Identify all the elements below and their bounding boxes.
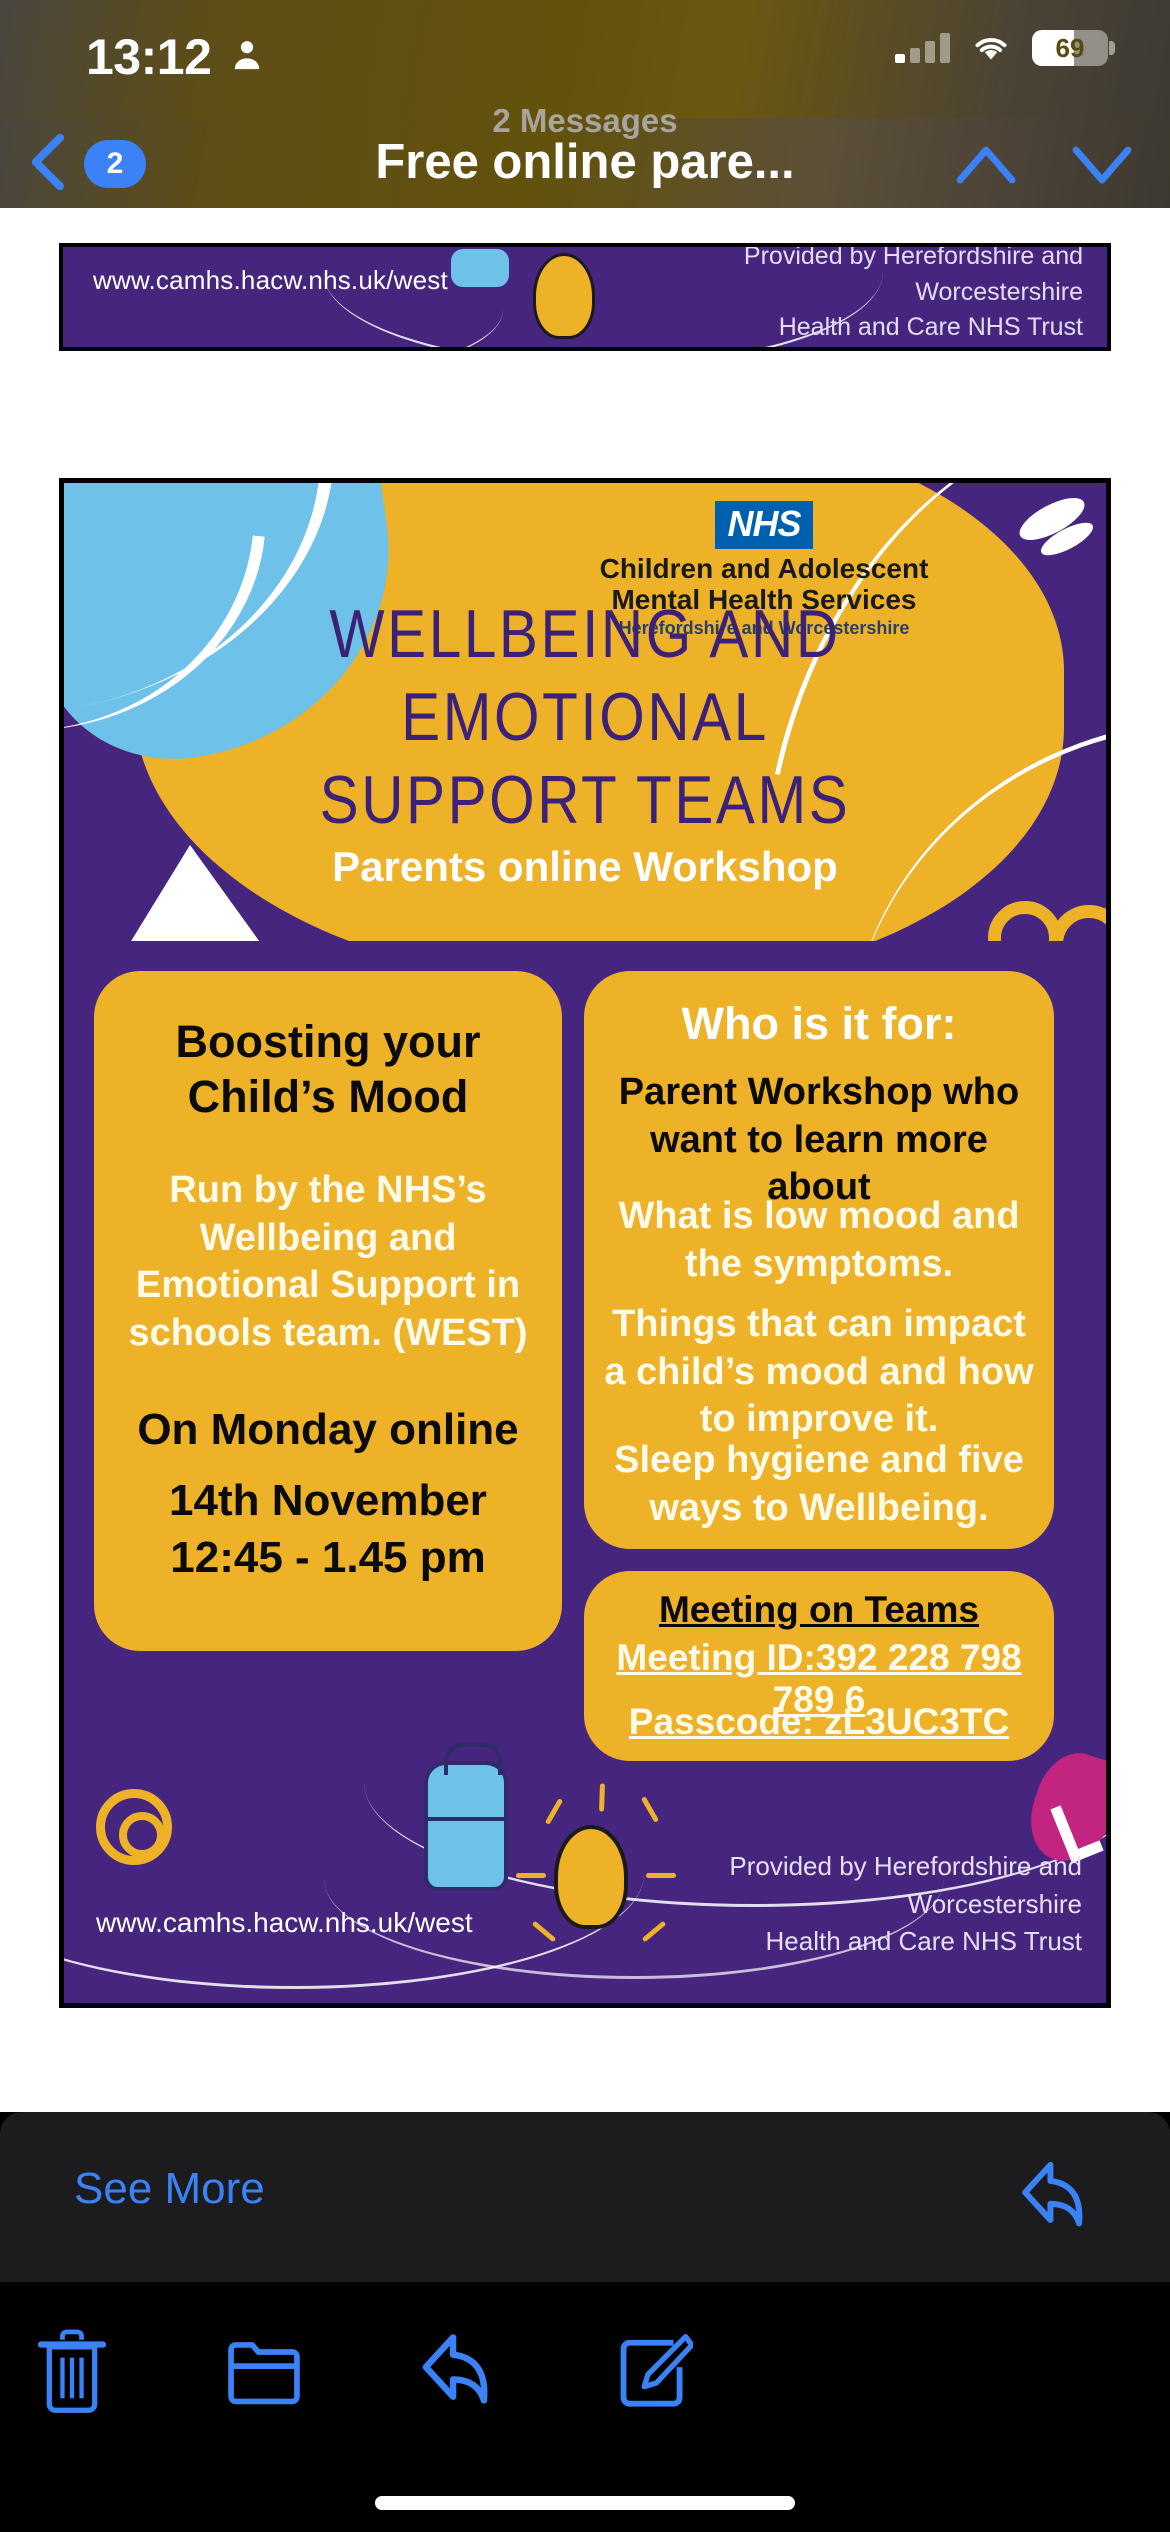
left-card-date-line-3: 12:45 - 1.45 pm	[108, 1529, 548, 1586]
lightbulb-ray	[516, 1873, 546, 1878]
lightbulb-ray	[545, 1798, 563, 1825]
chevron-up-icon[interactable]	[954, 140, 1018, 188]
left-card-runby: Run by the NHS’s Wellbeing and Emotional…	[108, 1167, 548, 1357]
poster-footer: www.camhs.hacw.nhs.uk/west Provided by H…	[64, 1743, 1106, 2003]
compose-icon	[615, 2332, 693, 2412]
folder-icon	[224, 2334, 304, 2410]
lightbulb-ray	[532, 1921, 557, 1943]
compose-button[interactable]	[594, 2312, 714, 2432]
poster-footer-provider-line-2: Health and Care NHS Trust	[592, 1923, 1082, 1961]
lightbulb-icon	[533, 253, 595, 339]
right-info-card: Who is it for: Parent Workshop who want …	[584, 971, 1054, 1549]
poster-attachment[interactable]: NHS Children and Adolescent Mental Healt…	[59, 478, 1111, 2008]
move-to-folder-button[interactable]	[204, 2312, 324, 2432]
poster-title-line-2: EMOTIONAL	[137, 676, 1033, 759]
left-card-date-line-1: On Monday online	[108, 1401, 548, 1458]
left-info-card: Boosting your Child’s Mood Run by the NH…	[94, 971, 562, 1651]
reply-icon[interactable]	[1018, 2158, 1092, 2236]
nhs-brand-line-1: Children and Adolescent	[554, 553, 974, 584]
battery-nub	[1109, 41, 1115, 55]
cellular-signal-icon	[895, 33, 950, 63]
poster-title-line-3: SUPPORT TEAMS	[137, 759, 1033, 842]
right-card-heading: Who is it for:	[600, 997, 1038, 1052]
left-card-heading: Boosting your Child’s Mood	[112, 1015, 544, 1125]
see-more-button[interactable]: See More	[74, 2164, 265, 2214]
chevron-down-icon[interactable]	[1070, 140, 1134, 188]
battery-icon: 69	[1032, 30, 1108, 66]
poster-title-line-1: WELLBEING AND	[137, 593, 1033, 676]
poster-title: WELLBEING AND EMOTIONAL SUPPORT TEAMS	[137, 593, 1033, 842]
reply-button[interactable]	[398, 2312, 518, 2432]
status-time: 13:12	[86, 28, 211, 86]
reply-icon	[416, 2330, 500, 2414]
wifi-icon	[970, 32, 1012, 64]
trash-icon	[33, 2329, 111, 2415]
message-content-scroll[interactable]: www.camhs.hacw.nhs.uk/west Provided by H…	[0, 0, 1170, 2112]
lightbulb-ray	[641, 1796, 659, 1823]
delete-button[interactable]	[12, 2312, 132, 2432]
decorative-wave	[63, 247, 503, 347]
previous-poster-url: www.camhs.hacw.nhs.uk/west	[93, 265, 448, 296]
poster-footer-url: www.camhs.hacw.nhs.uk/west	[96, 1907, 473, 1939]
navigation-bar: 2 2 Messages Free online pare...	[0, 118, 1170, 208]
right-card-para-4: Sleep hygiene and five ways to Wellbeing…	[598, 1437, 1040, 1532]
spiral-icon	[96, 1789, 172, 1865]
person-icon	[230, 36, 264, 74]
status-indicators: 69	[895, 30, 1108, 66]
poster-frame: NHS Children and Adolescent Mental Healt…	[64, 483, 1106, 2003]
meeting-passcode[interactable]: Passcode: zL3UC3TC	[598, 1701, 1040, 1743]
see-more-bar: See More	[0, 2112, 1170, 2282]
right-card-para-3: Things that can impact a child’s mood an…	[598, 1301, 1040, 1444]
poster-footer-provider-line-1: Provided by Herefordshire and Worcesters…	[592, 1848, 1082, 1923]
previous-poster-inner: www.camhs.hacw.nhs.uk/west Provided by H…	[63, 247, 1107, 347]
poster-subtitle: Parents online Workshop	[64, 843, 1106, 891]
poster-footer-provider: Provided by Herefordshire and Worcesters…	[592, 1848, 1082, 1961]
status-bar: 13:12 69	[0, 0, 1170, 118]
backpack-icon	[424, 1761, 508, 1891]
left-card-datetime: On Monday online 14th November 12:45 - 1…	[108, 1401, 548, 1587]
home-indicator[interactable]	[375, 2496, 795, 2510]
meeting-details-card[interactable]: Meeting on Teams Meeting ID:392 228 798 …	[584, 1571, 1054, 1761]
left-card-date-line-2: 14th November	[108, 1472, 548, 1529]
nhs-logo: NHS	[715, 501, 812, 549]
meeting-card-heading: Meeting on Teams	[598, 1589, 1040, 1631]
right-card-para-2: What is low mood and the symptoms.	[598, 1193, 1040, 1288]
lightbulb-ray	[599, 1783, 605, 1811]
battery-percent: 69	[1032, 30, 1108, 66]
previous-poster-provider: Provided by Herefordshire and Worcesters…	[653, 247, 1083, 346]
action-toolbar	[0, 2282, 1170, 2532]
backpack-icon	[451, 249, 509, 287]
right-card-para-1: Parent Workshop who want to learn more a…	[596, 1069, 1042, 1212]
previous-poster-attachment[interactable]: www.camhs.hacw.nhs.uk/west Provided by H…	[59, 243, 1111, 351]
